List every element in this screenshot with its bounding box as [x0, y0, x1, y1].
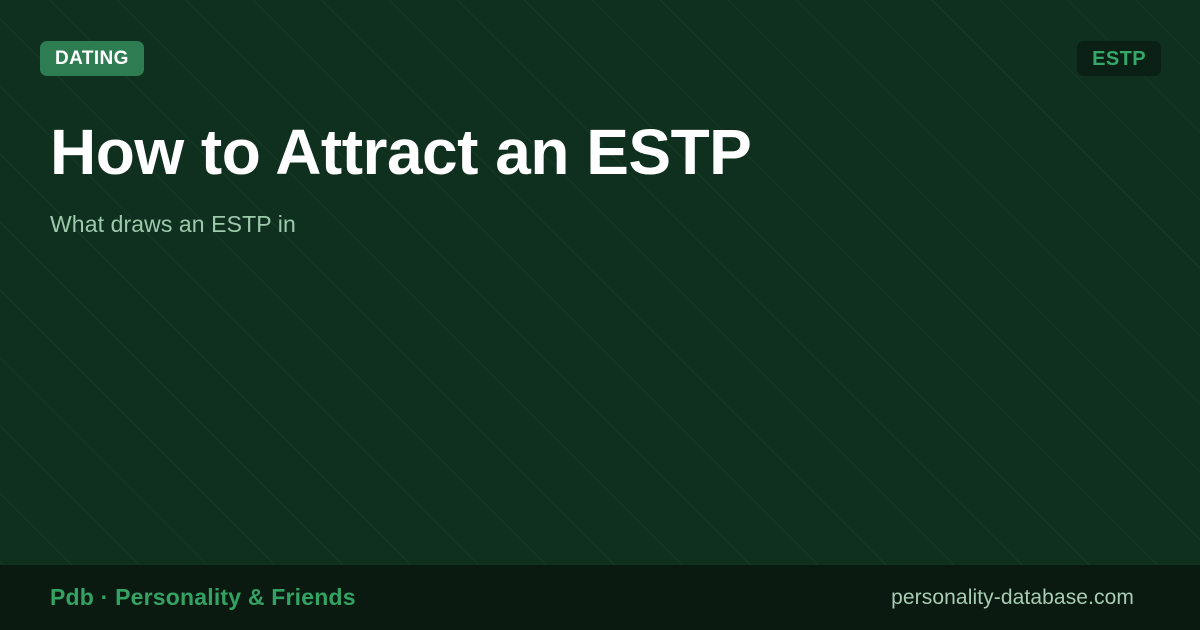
page-title: How to Attract an ESTP	[50, 118, 1140, 187]
brand-label: Pdb · Personality & Friends	[50, 584, 356, 611]
badge-row: DATING ESTP	[40, 41, 1161, 76]
footer-bar: Pdb · Personality & Friends personality-…	[0, 565, 1200, 630]
site-url-label: personality-database.com	[891, 586, 1150, 610]
share-card: DATING ESTP How to Attract an ESTP What …	[0, 0, 1200, 630]
category-badge[interactable]: DATING	[40, 41, 144, 76]
personality-type-badge[interactable]: ESTP	[1077, 41, 1161, 76]
page-subtitle: What draws an ESTP in	[50, 209, 1140, 240]
diagonal-stripe-pattern	[0, 0, 1200, 630]
headline-block: How to Attract an ESTP What draws an EST…	[50, 118, 1140, 240]
